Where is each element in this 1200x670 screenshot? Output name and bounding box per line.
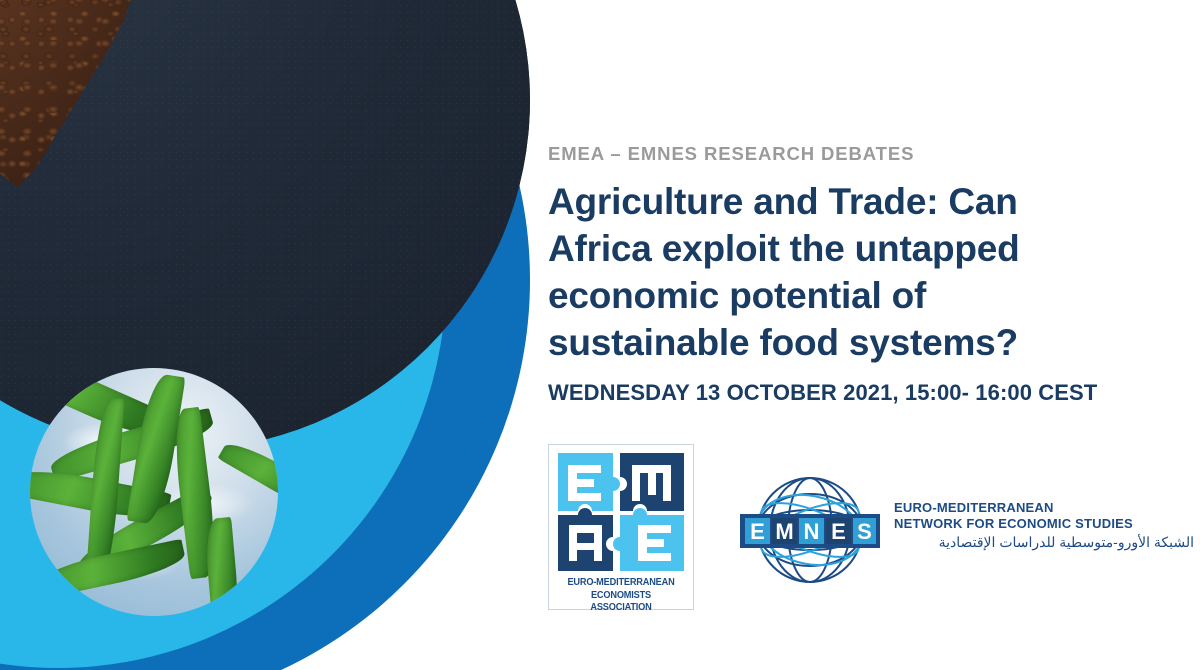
emnes-globe-mark: E M N E S	[736, 470, 884, 590]
maize-field-photo	[30, 368, 278, 616]
africa-bean-silhouette	[0, 0, 170, 191]
content-panel: EMEA – EMNES RESEARCH DEBATES Agricultur…	[548, 0, 1200, 670]
emea-caption-line-2: ECONOMISTS ASSOCIATION	[563, 590, 679, 615]
emea-caption: EURO-MEDITERRANEAN ECONOMISTS ASSOCIATIO…	[563, 577, 679, 615]
logo-row: EURO-MEDITERRANEAN ECONOMISTS ASSOCIATIO…	[548, 444, 1200, 624]
emnes-logo[interactable]: E M N E S EURO-MEDITERRANEAN NETWORK FOR…	[736, 470, 1196, 590]
africa-shape	[0, 0, 170, 191]
title-line-1: Agriculture and Trade: Can	[548, 178, 1188, 225]
svg-text:S: S	[857, 519, 872, 544]
artwork-composition	[0, 0, 540, 670]
emnes-wordmark-text: EURO-MEDITERRANEAN NETWORK FOR ECONOMIC …	[894, 500, 1194, 552]
title-line-3: economic potential of	[548, 272, 1188, 319]
page-title: Agriculture and Trade: Can Africa exploi…	[548, 178, 1188, 366]
svg-text:N: N	[804, 519, 820, 544]
svg-text:E: E	[831, 519, 846, 544]
event-datetime: WEDNESDAY 13 OCTOBER 2021, 15:00- 16:00 …	[548, 380, 1097, 406]
emnes-text-line-2: NETWORK FOR ECONOMIC STUDIES	[894, 516, 1194, 532]
emnes-text-arabic: الشبكة الأورو-متوسطية للدراسات الإقتصادي…	[894, 533, 1194, 552]
event-banner: EMEA – EMNES RESEARCH DEBATES Agricultur…	[0, 0, 1200, 670]
emea-caption-line-1: EURO-MEDITERRANEAN	[563, 577, 679, 590]
globe-icon: E M N E S	[736, 470, 884, 590]
emnes-text-line-1: EURO-MEDITERRANEAN	[894, 500, 1194, 516]
svg-text:E: E	[750, 519, 765, 544]
svg-text:M: M	[775, 519, 793, 544]
coffee-beans-texture	[0, 0, 170, 191]
series-eyebrow: EMEA – EMNES RESEARCH DEBATES	[548, 143, 914, 165]
emea-puzzle-grid	[558, 453, 684, 571]
emea-puzzle-icon	[558, 453, 684, 571]
title-line-2: Africa exploit the untapped	[548, 225, 1188, 272]
emea-logo[interactable]: EURO-MEDITERRANEAN ECONOMISTS ASSOCIATIO…	[548, 444, 694, 610]
title-line-4: sustainable food systems?	[548, 319, 1188, 366]
